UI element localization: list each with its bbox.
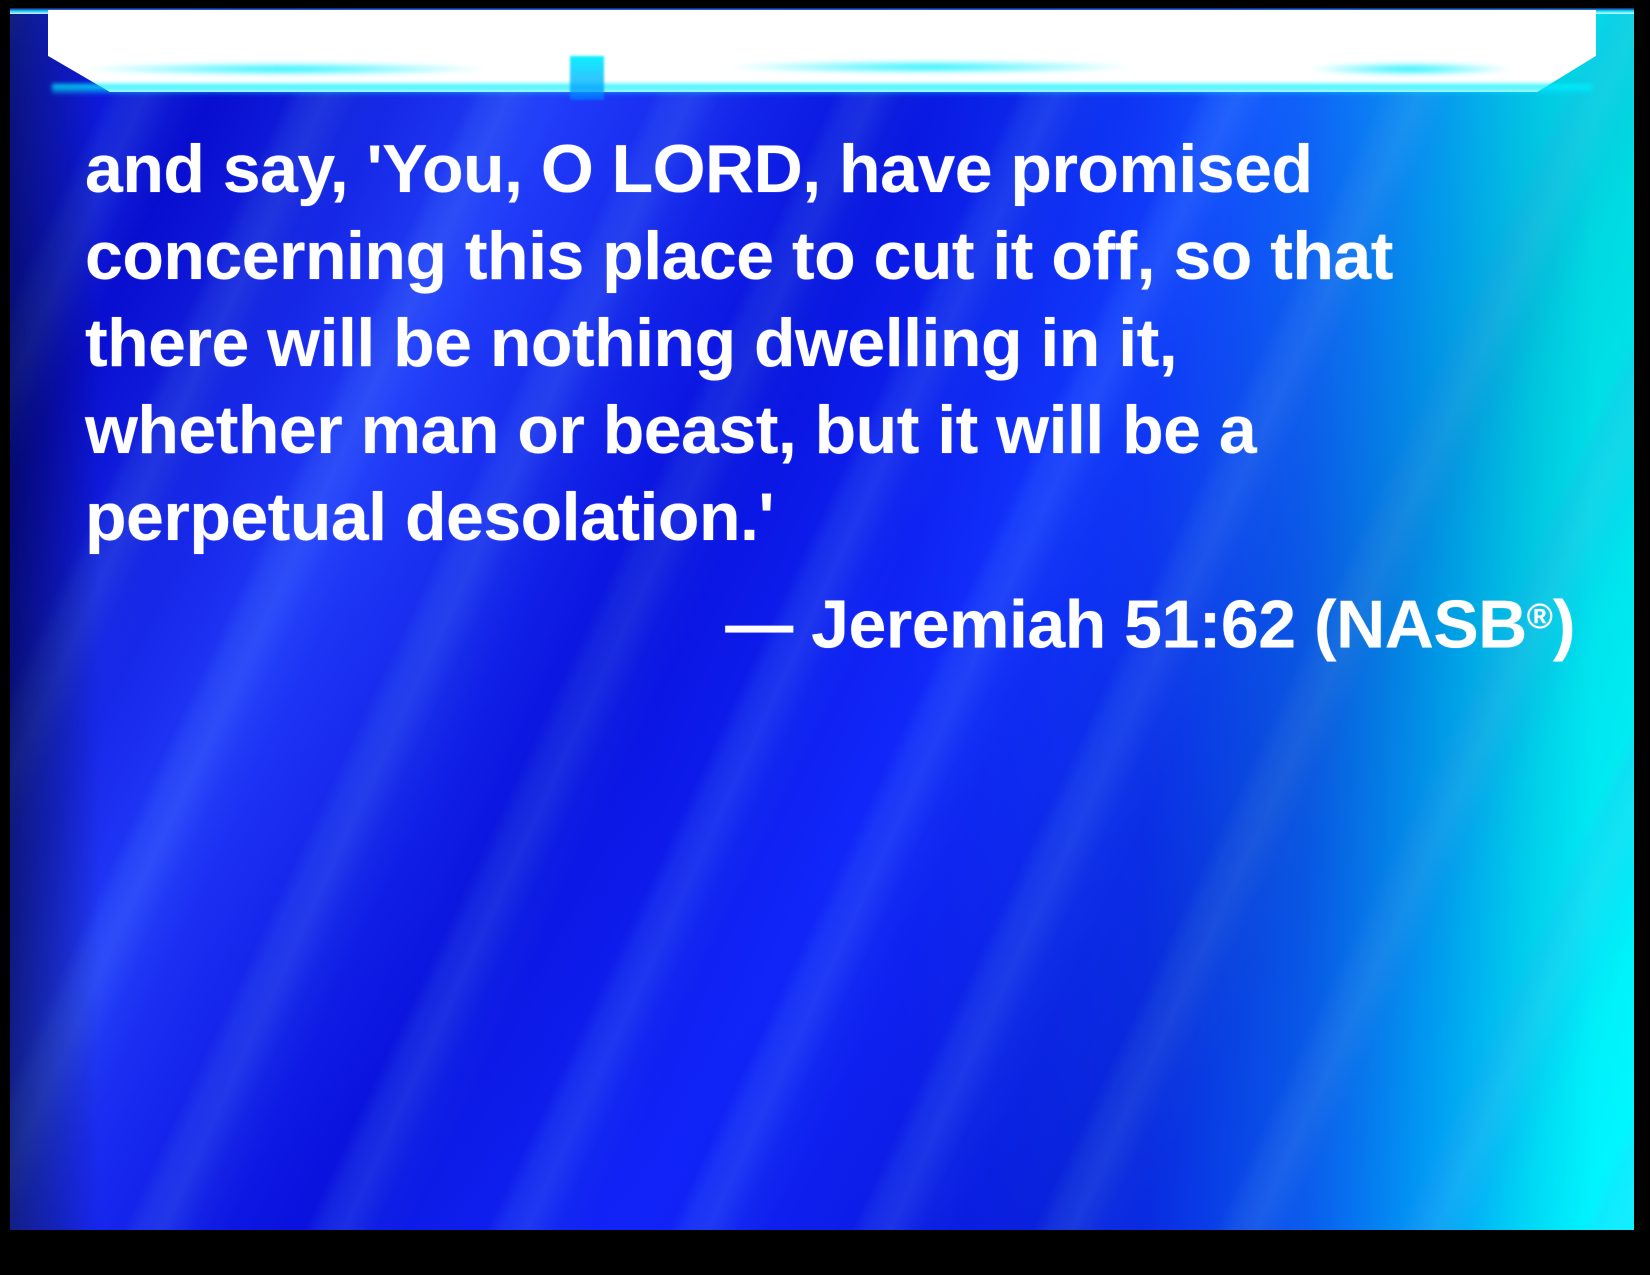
cyan-wisp-center <box>730 60 1130 74</box>
registered-trademark-icon: ® <box>1527 597 1553 636</box>
top-white-glow-band <box>10 8 1634 104</box>
verse-line-2: concerning this place to cut it off, so … <box>85 213 1585 300</box>
cyan-notch <box>570 56 604 100</box>
verse-slide: and say, 'You, O LORD, have promised con… <box>0 0 1650 1275</box>
attribution-prefix: — Jeremiah 51:62 (NASB <box>725 586 1527 662</box>
verse-line-4: whether man or beast, but it will be a <box>85 387 1585 474</box>
cyan-wisp-left <box>85 62 485 76</box>
verse-attribution: — Jeremiah 51:62 (NASB®) <box>85 573 1585 668</box>
verse-text-block: and say, 'You, O LORD, have promised con… <box>85 126 1585 668</box>
verse-line-1: and say, 'You, O LORD, have promised <box>85 126 1585 213</box>
verse-line-5: perpetual desolation.' <box>85 474 1585 561</box>
attribution-suffix: ) <box>1553 586 1575 662</box>
white-band-cyan-edge <box>52 84 1592 94</box>
white-band-slab <box>48 10 1596 92</box>
cyan-wisp-right <box>1310 62 1510 76</box>
slide-artboard: and say, 'You, O LORD, have promised con… <box>10 8 1634 1230</box>
verse-line-3: there will be nothing dwelling in it, <box>85 300 1585 387</box>
